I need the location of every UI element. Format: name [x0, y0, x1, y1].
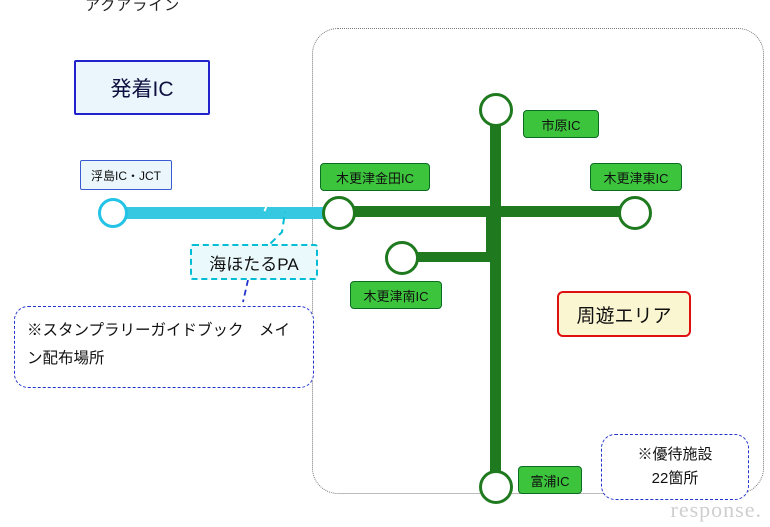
node-kisarazu-minami[interactable] — [385, 241, 419, 275]
top-partial-text: アクアライン — [85, 0, 180, 15]
label-kisarazu-kaneda-ic: 木更津金田IC — [320, 163, 430, 191]
note-stamp-line1: ※スタンプラリーガイドブック メイ — [27, 317, 301, 345]
node-kisarazu-higashi[interactable] — [618, 196, 652, 230]
label-umihotaru-pa: 海ほたるPA — [190, 244, 318, 280]
label-ukishima-ic-jct: 浮島IC・JCT — [80, 160, 172, 190]
node-tomiura[interactable] — [479, 470, 513, 504]
note-yutai-line2: 22箇所 — [652, 467, 699, 491]
legend-departure-ic: 発着IC — [74, 60, 210, 115]
aqualine-route — [113, 207, 328, 219]
diagram-canvas: アクアライン 発着IC 周遊エリア 浮島IC・JCT 海ほたるPA 市原IC 木… — [0, 0, 770, 527]
watermark: response. — [671, 497, 762, 523]
node-ukishima[interactable] — [98, 198, 128, 228]
note-stamp-line2: ン配布場所 — [27, 345, 301, 373]
label-ichihara-ic: 市原IC — [523, 110, 599, 138]
tour-area-region — [312, 28, 764, 494]
note-stamp-rally: ※スタンプラリーガイドブック メイ ン配布場所 — [14, 306, 314, 388]
note-yutai-facilities: ※優待施設 22箇所 — [601, 434, 749, 500]
note-yutai-line1: ※優待施設 — [637, 443, 712, 467]
label-tomiura-ic: 富浦IC — [518, 466, 582, 494]
node-kisarazu-kaneda[interactable] — [322, 196, 356, 230]
label-kisarazu-higashi-ic: 木更津東IC — [590, 163, 682, 191]
expressway-vertical-main — [490, 108, 501, 483]
label-kisarazu-minami-ic: 木更津南IC — [350, 281, 442, 309]
node-ichihara[interactable] — [479, 93, 513, 127]
legend-tour-area: 周遊エリア — [557, 291, 691, 337]
expressway-horizontal-main — [336, 206, 626, 217]
